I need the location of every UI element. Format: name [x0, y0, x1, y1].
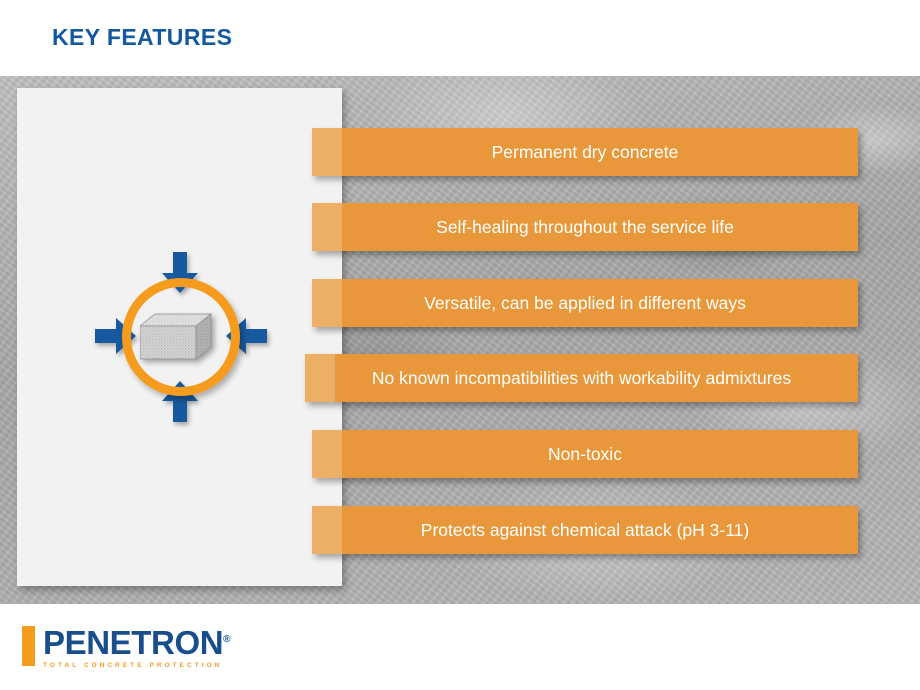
slide-root: KEY FEATURES	[0, 0, 920, 690]
feature-bar-label: No known incompatibilities with workabil…	[362, 368, 801, 389]
logo-tagline: TOTAL CONCRETE PROTECTION	[43, 663, 230, 669]
logo-text-column: PENETRON® TOTAL CONCRETE PROTECTION	[43, 626, 230, 669]
feature-bar-label: Permanent dry concrete	[482, 142, 689, 163]
feature-bar[interactable]: No known incompatibilities with workabil…	[305, 354, 858, 402]
registered-mark-icon: ®	[223, 634, 230, 645]
penetration-diagram	[95, 250, 265, 420]
title-bar: KEY FEATURES	[0, 0, 920, 76]
feature-bar[interactable]: Permanent dry concrete	[312, 128, 858, 176]
penetron-logo: PENETRON® TOTAL CONCRETE PROTECTION	[22, 626, 230, 669]
feature-bar[interactable]: Non-toxic	[312, 430, 858, 478]
feature-bar-label: Protects against chemical attack (pH 3-1…	[411, 520, 759, 541]
feature-bar-label: Versatile, can be applied in different w…	[414, 293, 756, 314]
page-title: KEY FEATURES	[52, 24, 232, 51]
feature-bar[interactable]: Versatile, can be applied in different w…	[312, 279, 858, 327]
logo-wordmark: PENETRON®	[43, 626, 230, 659]
feature-bar[interactable]: Protects against chemical attack (pH 3-1…	[312, 506, 858, 554]
feature-bar-label: Non-toxic	[538, 444, 632, 465]
footer: PENETRON® TOTAL CONCRETE PROTECTION	[0, 604, 920, 690]
feature-bar-label: Self-healing throughout the service life	[426, 217, 744, 238]
logo-wordmark-text: PENETRON	[43, 624, 223, 661]
feature-bar[interactable]: Self-healing throughout the service life	[312, 203, 858, 251]
concrete-block-icon	[140, 312, 212, 362]
logo-mark-icon	[22, 626, 35, 666]
